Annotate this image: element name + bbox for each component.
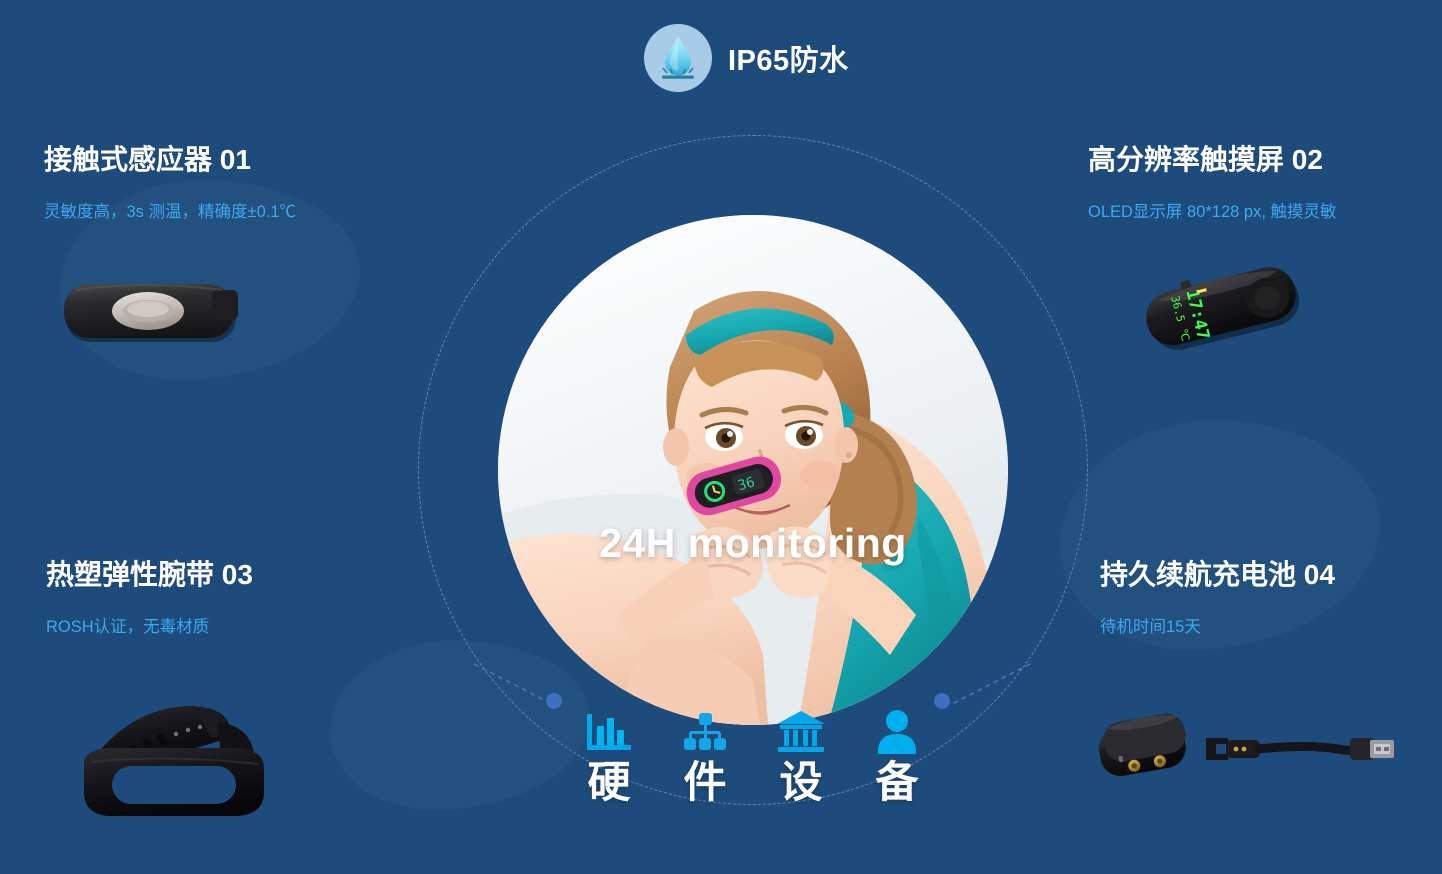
- bar-chart-icon: [566, 704, 652, 756]
- feature-title-02: 高分辨率触摸屏 02: [1088, 138, 1337, 178]
- feature-subtitle-04: 待机时间15天: [1100, 613, 1335, 637]
- feature-subtitle-03: ROSH认证，无毒材质: [46, 613, 253, 637]
- feature-subtitle-02: OLED显示屏 80*128 px, 触摸灵敏: [1088, 198, 1337, 222]
- feature-block-03: 热塑弹性腕带 03 ROSH认证，无毒材质: [46, 553, 253, 637]
- bottom-label-hardware: 硬: [566, 760, 652, 807]
- feature-block-01: 接触式感应器 01 灵敏度高，3s 测温，精确度±0.1℃: [44, 138, 296, 222]
- org-tree-icon: [662, 704, 748, 756]
- feature-title-01: 接触式感应器 01: [44, 138, 296, 178]
- bottom-item-component: 件: [662, 704, 748, 807]
- bottom-item-equipment: 设: [758, 704, 844, 807]
- oled-display-module-photo: 17:47 36.5 ℃: [1136, 258, 1316, 368]
- bottom-icon-row: 硬 件: [566, 704, 940, 807]
- infographic-canvas: IP65防水: [0, 0, 1442, 874]
- person-icon: [854, 704, 940, 756]
- bottom-item-device: 备: [854, 704, 940, 807]
- water-drop-icon: [644, 24, 712, 92]
- center-photo: 36 24H monitoring: [498, 215, 1008, 725]
- feature-title-04: 持久续航充电池 04: [1100, 553, 1335, 593]
- ip65-waterproof-badge: IP65防水: [644, 24, 849, 92]
- bottom-label-equipment: 设: [758, 760, 844, 807]
- feature-title-03: 热塑弹性腕带 03: [46, 553, 253, 593]
- ip65-label: IP65防水: [728, 37, 849, 79]
- battery-and-usb-charger-photo: [1088, 698, 1398, 805]
- connector-dot-left: [546, 693, 562, 709]
- silicone-wristband-photo: [68, 692, 280, 827]
- bottom-label-component: 件: [662, 760, 748, 807]
- contact-sensor-module-photo: [62, 268, 252, 361]
- feature-block-02: 高分辨率触摸屏 02 OLED显示屏 80*128 px, 触摸灵敏: [1088, 138, 1337, 222]
- bottom-label-device: 备: [854, 760, 940, 807]
- photo-caption: 24H monitoring: [498, 520, 1008, 567]
- bottom-item-hardware: 硬: [566, 704, 652, 807]
- bank-building-icon: [758, 704, 844, 756]
- feature-block-04: 持久续航充电池 04 待机时间15天: [1100, 553, 1335, 637]
- feature-subtitle-01: 灵敏度高，3s 测温，精确度±0.1℃: [44, 198, 296, 222]
